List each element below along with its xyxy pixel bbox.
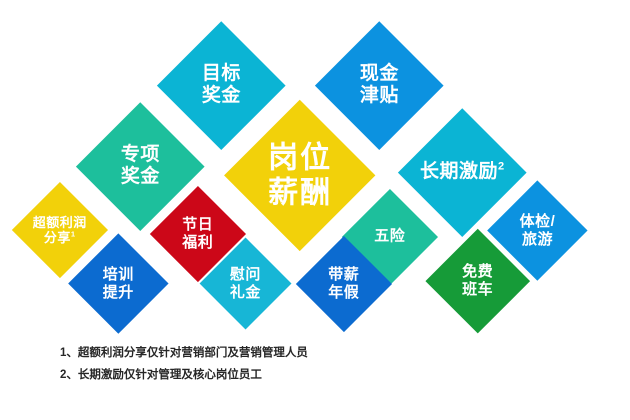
diamond-cash-allowance[interactable]: 现金 津贴 [315, 21, 443, 149]
diamond-label-checkup-travel: 体检/ 旅游 [519, 212, 555, 247]
diamond-target-bonus[interactable]: 目标 奖金 [157, 21, 285, 149]
diamond-label-holiday-benefit: 节日 福利 [182, 216, 213, 251]
footnote-2: 2、长期激励仅针对管理及核心岗位员工 [60, 364, 580, 386]
diamond-label-special-bonus: 专项 奖金 [120, 144, 159, 189]
footnote-list: 1、超额利润分享仅针对营销部门及营销管理人员2、长期激励仅针对管理及核心岗位员工 [60, 342, 580, 387]
diamond-label-condolence-gift: 慰问 礼金 [230, 266, 261, 301]
diamond-label-five-insurances: 五险 [374, 228, 405, 246]
diamond-label-free-shuttle-bus: 免费 班车 [462, 263, 493, 298]
diamond-label-excess-profit-sharing: 超额利润 分享1 [33, 215, 87, 246]
diamond-label-cash-allowance: 现金 津贴 [359, 63, 398, 108]
diamond-label-training-development: 培训 提升 [102, 265, 133, 300]
diamond-footnote-marker-long-term-incentive: 2 [498, 160, 505, 172]
diamond-label-target-bonus: 目标 奖金 [201, 63, 240, 108]
diamond-label-paid-annual-leave: 带薪 年假 [328, 266, 359, 301]
diamond-footnote-marker-excess-profit-sharing: 1 [71, 230, 76, 239]
footnote-1: 1、超额利润分享仅针对营销部门及营销管理人员 [60, 342, 580, 364]
diamond-label-position-salary: 岗位 薪酬 [268, 141, 332, 212]
diagram-canvas: 目标 奖金现金 津贴专项 奖金岗位 薪酬长期激励2超额利润 分享1节日 福利五险… [0, 0, 630, 420]
diamond-label-long-term-incentive: 长期激励2 [420, 161, 505, 183]
